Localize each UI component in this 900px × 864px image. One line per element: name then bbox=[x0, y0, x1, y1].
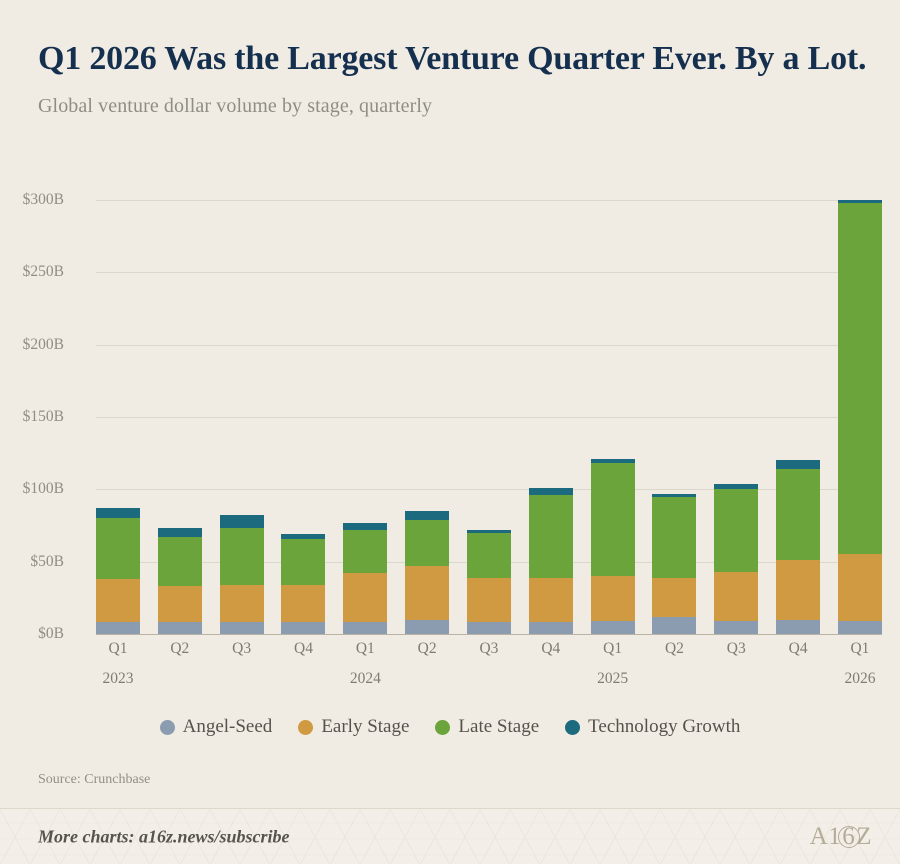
bar-segment-angel-seed bbox=[838, 621, 882, 634]
y-axis-label: $200B bbox=[0, 336, 64, 354]
gridline-$0B bbox=[96, 634, 882, 635]
footer-bar: More charts: a16z.news/subscribe A16Z bbox=[0, 808, 900, 864]
bar-segment-early-stage bbox=[158, 586, 202, 622]
legend-label: Late Stage bbox=[458, 716, 539, 738]
bar-segment-technology-growth bbox=[776, 460, 820, 469]
x-axis-tick: Q12023 bbox=[96, 640, 140, 658]
bar-segment-late-stage bbox=[591, 463, 635, 576]
y-axis-label: $150B bbox=[0, 408, 64, 426]
bar-segment-early-stage bbox=[281, 585, 325, 623]
footer-subscribe-link[interactable]: More charts: a16z.news/subscribe bbox=[38, 826, 290, 847]
x-axis-quarter-label: Q4 bbox=[776, 640, 820, 658]
x-axis-year-label: 2026 bbox=[844, 670, 875, 688]
bar-segment-late-stage bbox=[714, 489, 758, 571]
legend-label: Technology Growth bbox=[588, 716, 740, 738]
bar-segment-late-stage bbox=[467, 533, 511, 578]
bar-segment-technology-growth bbox=[220, 515, 264, 528]
bar-segment-angel-seed bbox=[467, 622, 511, 634]
source-note: Source: Crunchbase bbox=[38, 772, 150, 788]
bar-segment-angel-seed bbox=[220, 622, 264, 634]
x-axis-tick: Q2 bbox=[158, 640, 202, 658]
x-axis-tick: Q12025 bbox=[591, 640, 635, 658]
x-axis-quarter-label: Q3 bbox=[467, 640, 511, 658]
x-axis-tick: Q12024 bbox=[343, 640, 387, 658]
x-axis-year-label: 2023 bbox=[103, 670, 134, 688]
bar-segment-late-stage bbox=[281, 539, 325, 585]
bar-column[interactable] bbox=[467, 530, 511, 634]
x-axis-tick: Q2 bbox=[652, 640, 696, 658]
bar-segment-early-stage bbox=[405, 566, 449, 620]
legend-swatch-icon bbox=[435, 720, 450, 735]
bar-segment-technology-growth bbox=[96, 508, 140, 518]
bar-segment-late-stage bbox=[529, 495, 573, 577]
y-axis-label: $50B bbox=[0, 553, 64, 571]
a16z-logo: A16Z bbox=[810, 823, 872, 851]
bar-segment-early-stage bbox=[529, 578, 573, 623]
legend-item-early-stage[interactable]: Early Stage bbox=[298, 716, 409, 738]
bar-segment-early-stage bbox=[96, 579, 140, 622]
bar-segment-early-stage bbox=[838, 554, 882, 621]
bar-column[interactable] bbox=[96, 508, 140, 634]
bar-segment-angel-seed bbox=[652, 617, 696, 634]
legend-item-angel-seed[interactable]: Angel-Seed bbox=[160, 716, 273, 738]
bar-segment-angel-seed bbox=[96, 622, 140, 634]
legend-swatch-icon bbox=[565, 720, 580, 735]
bar-column[interactable] bbox=[343, 523, 387, 634]
x-axis-quarter-label: Q2 bbox=[158, 640, 202, 658]
bar-segment-angel-seed bbox=[405, 620, 449, 634]
a16z-logo-text: A16Z bbox=[810, 823, 872, 851]
bar-segment-early-stage bbox=[220, 585, 264, 623]
a16z-logo-ring bbox=[838, 826, 860, 848]
bar-segment-early-stage bbox=[652, 578, 696, 617]
bar-column[interactable] bbox=[158, 528, 202, 634]
bar-segment-late-stage bbox=[405, 520, 449, 566]
bar-segment-angel-seed bbox=[591, 621, 635, 634]
bar-segment-early-stage bbox=[591, 576, 635, 621]
bar-segment-late-stage bbox=[158, 537, 202, 586]
x-axis-quarter-label: Q2 bbox=[652, 640, 696, 658]
bar-column[interactable] bbox=[220, 515, 264, 634]
bar-column[interactable] bbox=[838, 200, 882, 634]
bar-column[interactable] bbox=[529, 488, 573, 634]
bar-segment-angel-seed bbox=[343, 622, 387, 634]
bar-column[interactable] bbox=[405, 511, 449, 634]
bars-layer bbox=[96, 200, 882, 634]
bar-column[interactable] bbox=[714, 484, 758, 634]
bar-segment-late-stage bbox=[220, 528, 264, 584]
bar-segment-early-stage bbox=[714, 572, 758, 621]
x-axis-quarter-label: Q1 bbox=[838, 640, 882, 658]
x-axis-quarter-label: Q2 bbox=[405, 640, 449, 658]
bar-segment-technology-growth bbox=[158, 528, 202, 537]
x-axis-quarter-label: Q1 bbox=[96, 640, 140, 658]
legend-label: Early Stage bbox=[321, 716, 409, 738]
bar-segment-early-stage bbox=[343, 573, 387, 622]
x-axis-quarter-label: Q4 bbox=[529, 640, 573, 658]
bar-segment-late-stage bbox=[652, 497, 696, 578]
legend-item-late-stage[interactable]: Late Stage bbox=[435, 716, 539, 738]
x-axis-quarter-label: Q1 bbox=[343, 640, 387, 658]
y-axis-label: $250B bbox=[0, 263, 64, 281]
bar-segment-angel-seed bbox=[776, 620, 820, 634]
plot-area: $0B$50B$100B$150B$200B$250B$300B bbox=[0, 200, 900, 652]
bar-segment-angel-seed bbox=[281, 622, 325, 634]
x-axis-quarter-label: Q3 bbox=[714, 640, 758, 658]
chart-legend: Angel-SeedEarly StageLate StageTechnolog… bbox=[0, 716, 900, 738]
legend-item-technology-growth[interactable]: Technology Growth bbox=[565, 716, 740, 738]
x-axis-quarter-label: Q3 bbox=[220, 640, 264, 658]
x-axis-tick: Q4 bbox=[529, 640, 573, 658]
bar-segment-technology-growth bbox=[343, 523, 387, 530]
x-axis-tick: Q3 bbox=[714, 640, 758, 658]
x-axis-tick: Q4 bbox=[776, 640, 820, 658]
x-axis-year-label: 2024 bbox=[350, 670, 381, 688]
bar-segment-late-stage bbox=[776, 469, 820, 560]
x-axis-quarter-label: Q1 bbox=[591, 640, 635, 658]
bar-segment-technology-growth bbox=[529, 488, 573, 495]
legend-swatch-icon bbox=[160, 720, 175, 735]
y-axis-label: $100B bbox=[0, 480, 64, 498]
bar-segment-late-stage bbox=[96, 518, 140, 579]
bar-column[interactable] bbox=[652, 494, 696, 634]
bar-column[interactable] bbox=[281, 534, 325, 634]
x-axis-tick: Q2 bbox=[405, 640, 449, 658]
x-axis-tick: Q3 bbox=[467, 640, 511, 658]
bar-segment-technology-growth bbox=[405, 511, 449, 520]
bar-column[interactable] bbox=[591, 459, 635, 634]
a16z-logo-char: A bbox=[810, 823, 829, 850]
x-axis-quarter-label: Q4 bbox=[281, 640, 325, 658]
legend-swatch-icon bbox=[298, 720, 313, 735]
bar-segment-angel-seed bbox=[714, 621, 758, 634]
y-axis-label: $0B bbox=[0, 625, 64, 643]
bar-segment-late-stage bbox=[838, 203, 882, 555]
y-axis-label: $300B bbox=[0, 191, 64, 209]
x-axis-year-label: 2025 bbox=[597, 670, 628, 688]
bar-segment-angel-seed bbox=[158, 622, 202, 634]
x-axis-tick: Q3 bbox=[220, 640, 264, 658]
bar-segment-early-stage bbox=[467, 578, 511, 623]
legend-label: Angel-Seed bbox=[183, 716, 273, 738]
x-axis: Q12023Q2Q3Q4Q12024Q2Q3Q4Q12025Q2Q3Q4Q120… bbox=[96, 640, 882, 658]
chart-card: Q1 2026 Was the Largest Venture Quarter … bbox=[0, 0, 900, 864]
bar-segment-late-stage bbox=[343, 530, 387, 573]
a16z-logo-circle-mark: 6 bbox=[841, 823, 856, 851]
bar-segment-early-stage bbox=[776, 560, 820, 619]
x-axis-tick: Q12026 bbox=[838, 640, 882, 658]
chart-header: Q1 2026 Was the Largest Venture Quarter … bbox=[38, 38, 868, 118]
x-axis-tick: Q4 bbox=[281, 640, 325, 658]
chart-subtitle: Global venture dollar volume by stage, q… bbox=[38, 95, 868, 118]
page-title: Q1 2026 Was the Largest Venture Quarter … bbox=[38, 38, 868, 79]
bar-segment-angel-seed bbox=[529, 622, 573, 634]
bar-column[interactable] bbox=[776, 460, 820, 634]
